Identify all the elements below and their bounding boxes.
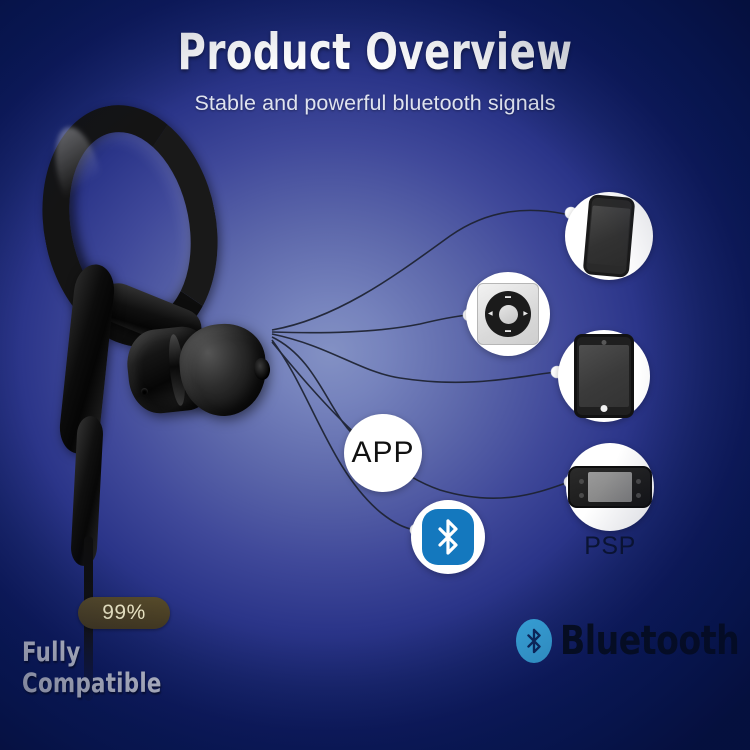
compatibility-percent-badge: 99% bbox=[78, 597, 170, 629]
earphone-product-image bbox=[18, 96, 318, 606]
device-node-app[interactable]: APP bbox=[344, 414, 422, 492]
psp-dpad bbox=[579, 479, 584, 484]
psp-stick bbox=[579, 493, 584, 498]
wheel-next-icon: ▶ bbox=[523, 311, 528, 317]
bluetooth-glyph bbox=[525, 627, 543, 655]
fully-compatible-caption: Fully Compatible bbox=[22, 637, 207, 699]
app-label: APP bbox=[351, 436, 414, 470]
smartphone-icon bbox=[583, 194, 636, 278]
wheel-prev-icon: ◀ bbox=[488, 311, 493, 317]
bluetooth-logo-icon bbox=[516, 619, 552, 663]
click-wheel-icon: ▬ ◀ ▶ ▬ bbox=[485, 291, 531, 337]
page-subtitle: Stable and powerful bluetooth signals bbox=[0, 91, 750, 116]
wheel-center-button bbox=[499, 305, 518, 324]
wheel-play-icon: ▬ bbox=[505, 328, 511, 334]
product-overview-banner: Product Overview Stable and powerful blu… bbox=[0, 0, 750, 750]
tablet-screen bbox=[579, 345, 629, 407]
psp-screen bbox=[588, 472, 632, 502]
mp3-player-icon: ▬ ◀ ▶ ▬ bbox=[477, 283, 539, 345]
device-node-mp3-player[interactable]: ▬ ◀ ▶ ▬ bbox=[466, 272, 550, 356]
tablet-home-button bbox=[601, 405, 608, 412]
earphone-vent-hole bbox=[141, 388, 148, 395]
psp-buttons bbox=[636, 479, 641, 484]
psp-label: PSP bbox=[566, 532, 654, 561]
bluetooth-icon bbox=[422, 509, 474, 565]
device-node-psp[interactable] bbox=[566, 443, 654, 531]
bluetooth-word: Bluetooth bbox=[560, 618, 739, 664]
smartphone-screen bbox=[588, 205, 631, 266]
device-node-tablet[interactable] bbox=[558, 330, 650, 422]
header: Product Overview Stable and powerful blu… bbox=[0, 26, 750, 116]
compatibility-percent-value: 99% bbox=[102, 601, 146, 625]
wheel-menu-icon: ▬ bbox=[505, 294, 511, 300]
bluetooth-glyph bbox=[435, 519, 461, 555]
device-node-bluetooth[interactable] bbox=[411, 500, 485, 574]
device-node-smartphone[interactable] bbox=[565, 192, 653, 280]
tablet-camera bbox=[602, 340, 607, 345]
psp-icon bbox=[568, 466, 652, 508]
page-title: Product Overview bbox=[53, 26, 698, 79]
psp-buttons-2 bbox=[636, 493, 641, 498]
tablet-icon bbox=[574, 334, 634, 418]
bluetooth-wordmark: Bluetooth bbox=[516, 618, 750, 664]
